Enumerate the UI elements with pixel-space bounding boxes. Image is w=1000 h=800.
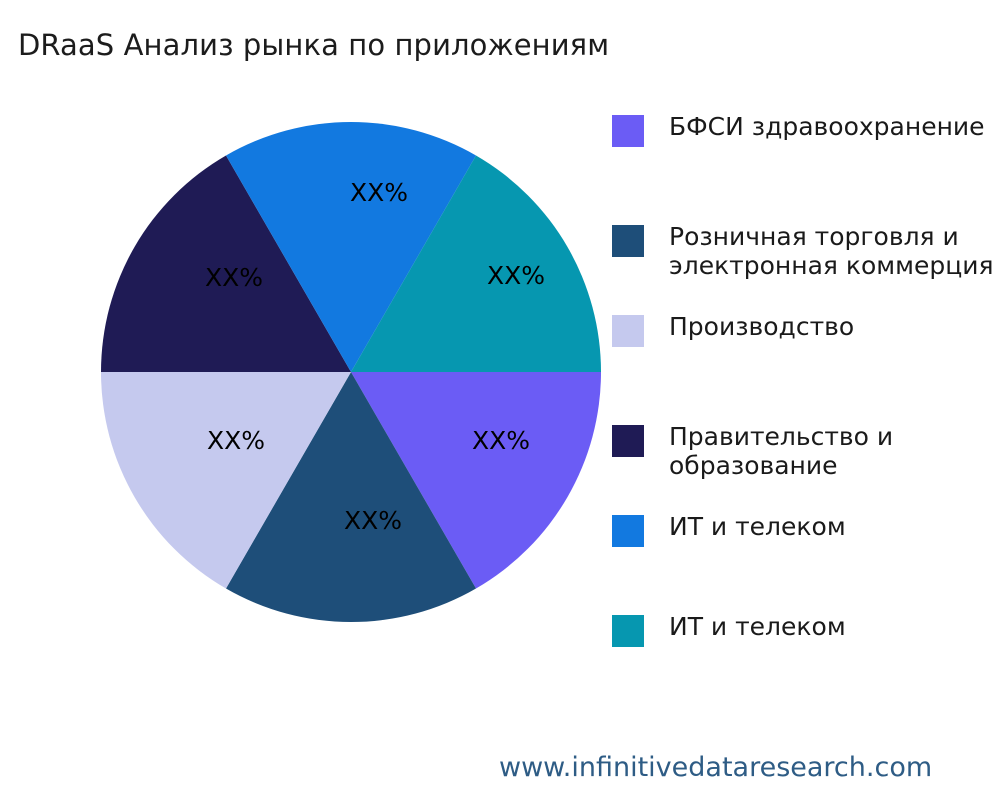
slice-percent-label: XX% [205,263,263,292]
slice-percent-label: XX% [350,178,408,207]
legend-color-swatch [612,225,644,257]
slice-percent-label: XX% [344,506,402,535]
pie-chart-svg: XX%XX%XX%XX%XX%XX% [101,122,601,622]
pie-chart: XX%XX%XX%XX%XX%XX% [101,122,601,622]
legend-color-swatch [612,515,644,547]
legend-color-swatch [612,115,644,147]
legend-item[interactable]: ИТ и телеком [612,512,846,547]
slice-percent-label: XX% [487,261,545,290]
legend-color-swatch [612,315,644,347]
legend-item-label: БФСИ здравоохранение [669,112,985,141]
legend-item[interactable]: Производство [612,312,854,347]
legend-color-swatch [612,615,644,647]
legend-color-swatch [612,425,644,457]
legend-item[interactable]: Розничная торговля и электронная коммерц… [612,222,994,280]
legend-item[interactable]: ИТ и телеком [612,612,846,647]
legend-item[interactable]: БФСИ здравоохранение [612,112,985,147]
legend-item-label: ИТ и телеком [669,512,846,541]
slice-percent-label: XX% [472,426,530,455]
source-website-url: www.infinitivedataresearch.com [499,752,932,784]
legend-item-label: Правительство и образование [669,422,893,480]
legend: БФСИ здравоохранениеРозничная торговля и… [612,112,1000,692]
legend-item-label: Розничная торговля и электронная коммерц… [669,222,994,280]
slice-percent-label: XX% [207,426,265,455]
page-title: DRaaS Анализ рынка по приложениям [18,28,609,62]
legend-item-label: ИТ и телеком [669,612,846,641]
legend-item[interactable]: Правительство и образование [612,422,893,480]
legend-item-label: Производство [669,312,854,341]
